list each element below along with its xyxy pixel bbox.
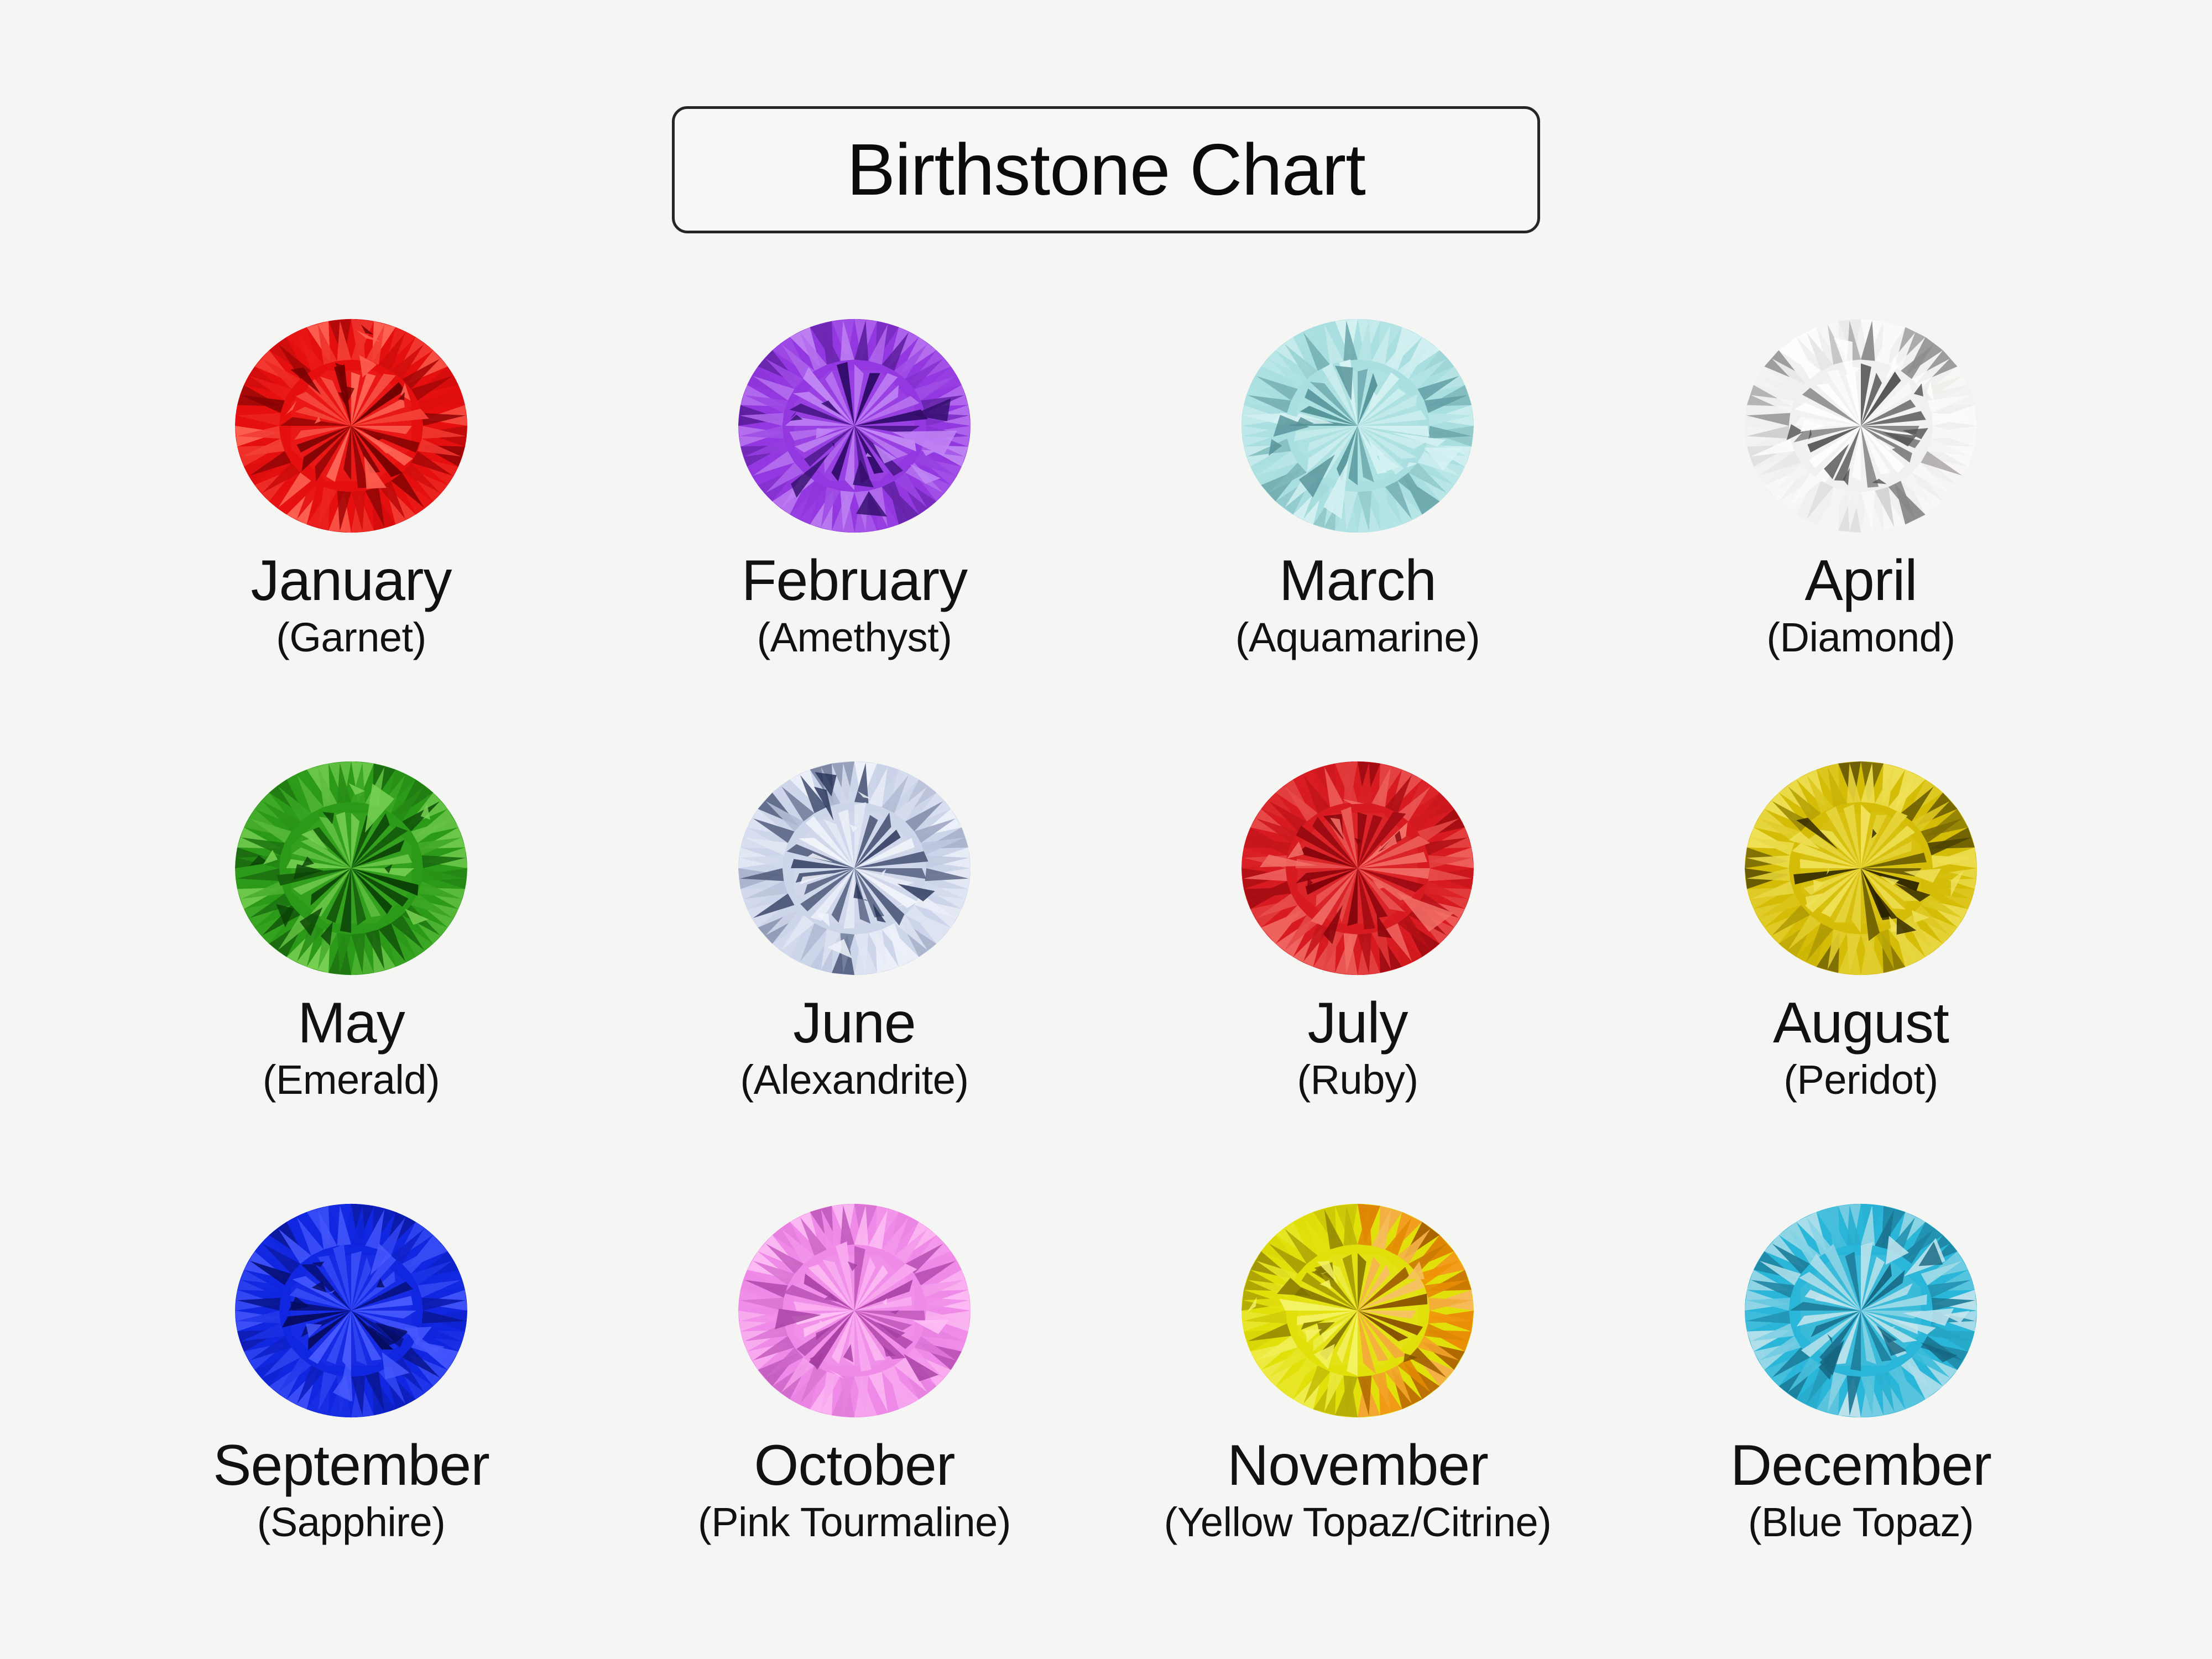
gemstone-icon-october	[738, 1194, 971, 1427]
gemstone-icon-august	[1745, 752, 1977, 984]
stone-label: (Yellow Topaz/Citrine)	[1164, 1502, 1552, 1543]
gemstone-icon-april	[1745, 310, 1977, 542]
month-label: September	[213, 1437, 489, 1494]
birthstone-cell-june: June(Alexandrite)	[603, 752, 1106, 1194]
birthstone-cell-november: November(Yellow Topaz/Citrine)	[1106, 1194, 1609, 1637]
stone-label: (Sapphire)	[257, 1502, 446, 1543]
gemstone-icon-september	[235, 1194, 467, 1427]
month-label: December	[1730, 1437, 1991, 1494]
birthstone-cell-september: September(Sapphire)	[100, 1194, 603, 1637]
month-label: November	[1227, 1437, 1488, 1494]
gemstone-icon-november	[1241, 1194, 1474, 1427]
stone-label: (Blue Topaz)	[1748, 1502, 1974, 1543]
title-box: Birthstone Chart	[672, 106, 1540, 233]
month-label: January	[251, 552, 452, 609]
month-label: April	[1804, 552, 1917, 609]
birthstone-cell-february: February(Amethyst)	[603, 310, 1106, 752]
month-label: May	[298, 994, 404, 1052]
stone-label: (Amethyst)	[757, 617, 952, 658]
month-label: February	[742, 552, 967, 609]
birthstone-cell-august: August(Peridot)	[1609, 752, 2112, 1194]
stone-label: (Alexandrite)	[740, 1060, 968, 1100]
gemstone-icon-march	[1241, 310, 1474, 542]
month-label: August	[1773, 994, 1949, 1052]
birthstone-cell-december: December(Blue Topaz)	[1609, 1194, 2112, 1637]
stone-label: (Peridot)	[1783, 1060, 1938, 1100]
birthstone-chart-page: Birthstone Chart January(Garnet)February…	[0, 0, 2212, 1659]
birthstone-cell-april: April(Diamond)	[1609, 310, 2112, 752]
month-label: June	[793, 994, 916, 1052]
birthstone-cell-october: October(Pink Tourmaline)	[603, 1194, 1106, 1637]
birthstone-cell-may: May(Emerald)	[100, 752, 603, 1194]
stone-label: (Pink Tourmaline)	[698, 1502, 1011, 1543]
month-label: July	[1308, 994, 1408, 1052]
gemstone-icon-may	[235, 752, 467, 984]
month-label: March	[1279, 552, 1436, 609]
stone-label: (Diamond)	[1767, 617, 1955, 658]
birthstone-cell-january: January(Garnet)	[100, 310, 603, 752]
page-title: Birthstone Chart	[847, 133, 1365, 206]
birthstone-cell-july: July(Ruby)	[1106, 752, 1609, 1194]
birthstone-grid: January(Garnet)February(Amethyst)March(A…	[100, 310, 2112, 1637]
stone-label: (Aquamarine)	[1235, 617, 1480, 658]
month-label: October	[754, 1437, 955, 1494]
birthstone-cell-march: March(Aquamarine)	[1106, 310, 1609, 752]
gemstone-icon-july	[1241, 752, 1474, 984]
gemstone-icon-february	[738, 310, 971, 542]
gemstone-icon-june	[738, 752, 971, 984]
gemstone-icon-december	[1745, 1194, 1977, 1427]
gemstone-icon-january	[235, 310, 467, 542]
stone-label: (Emerald)	[263, 1060, 440, 1100]
stone-label: (Ruby)	[1297, 1060, 1418, 1100]
stone-label: (Garnet)	[276, 617, 426, 658]
